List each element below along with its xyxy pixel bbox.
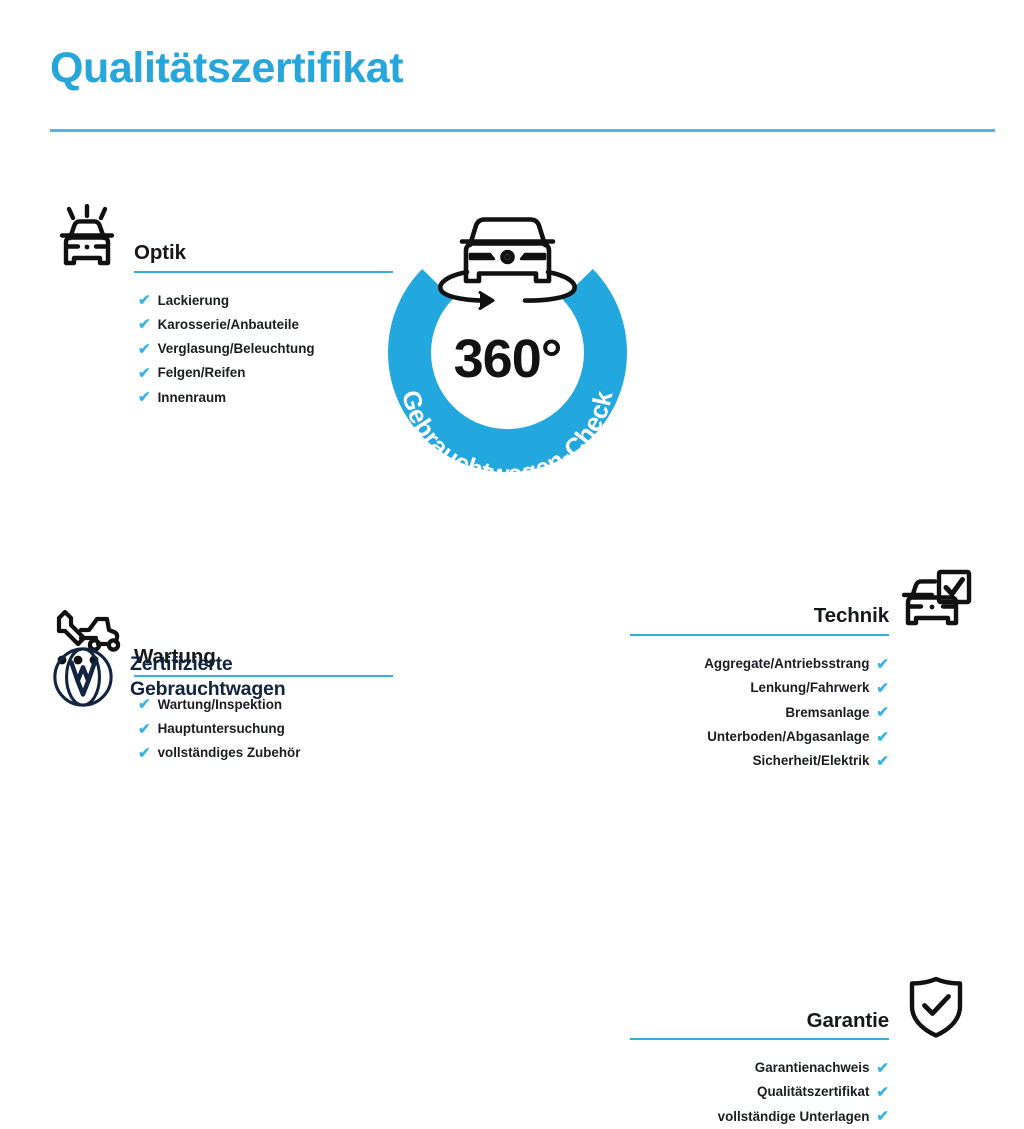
list-item: Garantienachweis✔ — [630, 1056, 889, 1080]
header-divider — [50, 129, 995, 132]
list-item-label: Verglasung/Beleuchtung — [158, 337, 315, 361]
check-icon: ✔ — [138, 317, 151, 332]
list-item-label: Sicherheit/Elektrik — [753, 749, 870, 773]
list-item-label: Qualitätszertifikat — [757, 1080, 869, 1104]
check-icon: ✔ — [138, 366, 151, 381]
list-item-label: vollständiges Zubehör — [158, 741, 301, 765]
list-item: vollständige Unterlagen✔ — [630, 1105, 889, 1129]
list-item-label: Hauptuntersuchung — [158, 717, 285, 741]
list-item-label: Bremsanlage — [785, 701, 869, 725]
check-icon: ✔ — [876, 705, 889, 720]
page-header: Qualitätszertifikat — [50, 46, 995, 132]
check-icon: ✔ — [876, 730, 889, 745]
list-item-label: Garantienachweis — [755, 1056, 870, 1080]
badge-center-value: 360° — [370, 332, 645, 386]
list-item-label: Unterboden/Abgasanlage — [707, 725, 869, 749]
vw-certified-logo: Zertifizierte Gebrauchtwagen — [52, 646, 285, 708]
list-item: ✔Innenraum — [134, 386, 393, 410]
list-item-label: Innenraum — [158, 386, 226, 410]
section-body: Optik ✔Lackierung ✔Karosserie/Anbauteile… — [134, 204, 393, 410]
section-body: Technik Aggregate/Antriebsstrang✔ Lenkun… — [630, 567, 889, 773]
logo-text-line2: Gebrauchtwagen — [130, 677, 285, 702]
check-icon: ✔ — [138, 342, 151, 357]
checklist-garantie: Garantienachweis✔ Qualitätszertifikat✔ v… — [630, 1040, 889, 1129]
check-icon: ✔ — [876, 754, 889, 769]
logo-text-line1: Zertifizierte — [130, 652, 285, 677]
check-icon: ✔ — [876, 1109, 889, 1124]
list-item: ✔Karosserie/Anbauteile — [134, 313, 393, 337]
check-icon: ✔ — [876, 681, 889, 696]
check-icon: ✔ — [138, 293, 151, 308]
list-item: Unterboden/Abgasanlage✔ — [630, 725, 889, 749]
badge-360-gebrauchtwagen-check: Gebrauchtwagen-Check 360° — [370, 196, 645, 496]
list-item-label: vollständige Unterlagen — [718, 1105, 870, 1129]
list-item: Bremsanlage✔ — [630, 701, 889, 725]
section-garantie: Garantie Garantienachweis✔ Qualitätszert… — [630, 972, 975, 1129]
check-icon: ✔ — [138, 390, 151, 405]
car-shine-icon — [44, 204, 130, 284]
section-body: Garantie Garantienachweis✔ Qualitätszert… — [630, 972, 889, 1129]
check-icon: ✔ — [138, 722, 151, 737]
list-item: ✔Hauptuntersuchung — [134, 717, 393, 741]
certificate-page: Qualitätszertifikat Optik ✔Lackierung ✔ — [0, 0, 1024, 768]
list-item-label: Karosserie/Anbauteile — [158, 313, 299, 337]
list-item: ✔Lackierung — [134, 289, 393, 313]
list-item: Sicherheit/Elektrik✔ — [630, 749, 889, 773]
check-icon: ✔ — [876, 657, 889, 672]
section-heading: Technik — [630, 567, 889, 628]
logo-text: Zertifizierte Gebrauchtwagen — [130, 652, 285, 702]
car-checkbox-icon — [893, 567, 979, 647]
shield-check-icon — [893, 972, 979, 1052]
list-item: Qualitätszertifikat✔ — [630, 1080, 889, 1104]
list-item: ✔vollständiges Zubehör — [134, 741, 393, 765]
section-heading: Optik — [134, 204, 393, 265]
section-heading: Garantie — [630, 972, 889, 1033]
list-item-label: Aggregate/Antriebsstrang — [704, 652, 869, 676]
list-item-label: Lackierung — [158, 289, 229, 313]
page-title: Qualitätszertifikat — [50, 46, 995, 91]
list-item-label: Lenkung/Fahrwerk — [750, 676, 869, 700]
volkswagen-logo-icon — [52, 646, 114, 708]
section-optik: Optik ✔Lackierung ✔Karosserie/Anbauteile… — [48, 204, 393, 410]
section-technik: Technik Aggregate/Antriebsstrang✔ Lenkun… — [630, 567, 975, 773]
check-icon: ✔ — [876, 1085, 889, 1100]
list-item: ✔Verglasung/Beleuchtung — [134, 337, 393, 361]
check-icon: ✔ — [138, 746, 151, 761]
checklist-optik: ✔Lackierung ✔Karosserie/Anbauteile ✔Verg… — [134, 273, 393, 410]
list-item-label: Felgen/Reifen — [158, 361, 246, 385]
check-icon: ✔ — [876, 1061, 889, 1076]
list-item: Aggregate/Antriebsstrang✔ — [630, 652, 889, 676]
list-item: Lenkung/Fahrwerk✔ — [630, 676, 889, 700]
checklist-technik: Aggregate/Antriebsstrang✔ Lenkung/Fahrwe… — [630, 636, 889, 773]
list-item: ✔Felgen/Reifen — [134, 361, 393, 385]
